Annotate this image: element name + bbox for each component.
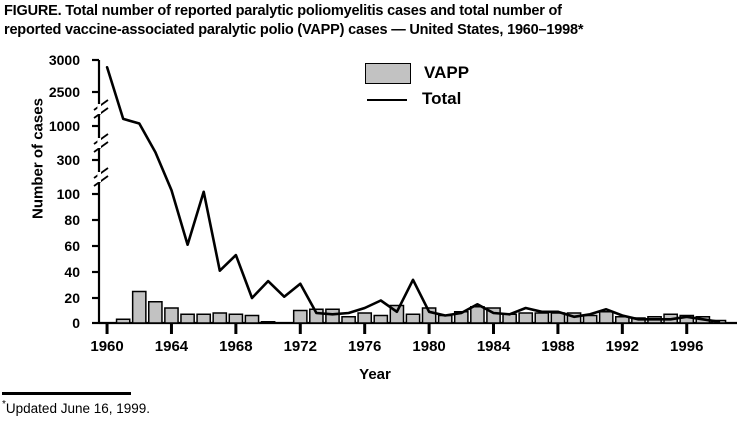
legend-label-total: Total: [422, 89, 461, 109]
x-axis-title: Year: [0, 366, 750, 383]
y-tick-label: 300: [57, 153, 80, 167]
x-tick-label: 1992: [606, 338, 639, 355]
y-tick-label: 40: [64, 265, 80, 279]
y-tick-label: 0: [72, 316, 80, 330]
y-tick-label: 3000: [49, 53, 80, 67]
axis-break-gap: [97, 104, 101, 114]
axis-break-gap: [97, 138, 101, 148]
vapp-bar: [245, 316, 258, 324]
y-tick-label: 1000: [49, 119, 80, 133]
vapp-bar: [229, 314, 242, 323]
axis-break-gap: [97, 172, 101, 182]
vapp-bar: [117, 319, 130, 323]
y-tick-label: 60: [64, 239, 80, 253]
y-tick-label: 20: [64, 291, 80, 305]
y-axis-title: Number of cases: [30, 59, 47, 259]
legend-item-vapp: VAPP: [365, 60, 469, 86]
x-tick-label: 1996: [670, 338, 703, 355]
x-tick-label: 1960: [90, 338, 123, 355]
legend-label-vapp: VAPP: [424, 63, 469, 83]
y-tick-label: 2500: [49, 85, 80, 99]
x-tick-label: 1968: [219, 338, 252, 355]
vapp-bar: [471, 307, 484, 323]
x-tick-label: 1988: [541, 338, 574, 355]
vapp-bar: [261, 322, 274, 323]
figure-page: FIGURE. Total number of reported paralyt…: [0, 0, 750, 426]
chart-legend: VAPP Total: [365, 60, 469, 112]
vapp-bar: [342, 317, 355, 323]
footnote-rule: [2, 392, 131, 395]
x-tick-label: 1964: [155, 338, 188, 355]
vapp-bar: [165, 308, 178, 323]
vapp-bar: [535, 313, 548, 323]
vapp-bar: [406, 314, 419, 323]
x-tick-label: 1984: [477, 338, 510, 355]
vapp-bar: [326, 309, 339, 323]
vapp-bar: [600, 312, 613, 323]
vapp-bar: [149, 302, 162, 323]
footnote: *Updated June 16, 1999.: [2, 399, 150, 416]
footnote-text: Updated June 16, 1999.: [6, 401, 150, 416]
y-tick-label: 80: [64, 213, 80, 227]
vapp-bar: [374, 316, 387, 324]
vapp-swatch-icon: [365, 63, 411, 84]
total-line-icon: [365, 90, 409, 109]
vapp-bar: [584, 316, 597, 324]
vapp-bar: [519, 313, 532, 323]
vapp-bar: [294, 311, 307, 324]
y-tick-label: 100: [57, 187, 80, 201]
y-axis-tick-labels: 020406080100300100025003000: [18, 0, 80, 426]
vapp-bar: [358, 313, 371, 323]
vapp-bar: [197, 314, 210, 323]
vapp-bar: [181, 314, 194, 323]
x-tick-label: 1976: [348, 338, 381, 355]
vapp-bar: [133, 292, 146, 324]
x-tick-label: 1972: [284, 338, 317, 355]
legend-item-total: Total: [365, 86, 469, 112]
x-tick-label: 1980: [412, 338, 445, 355]
vapp-bar: [213, 313, 226, 323]
